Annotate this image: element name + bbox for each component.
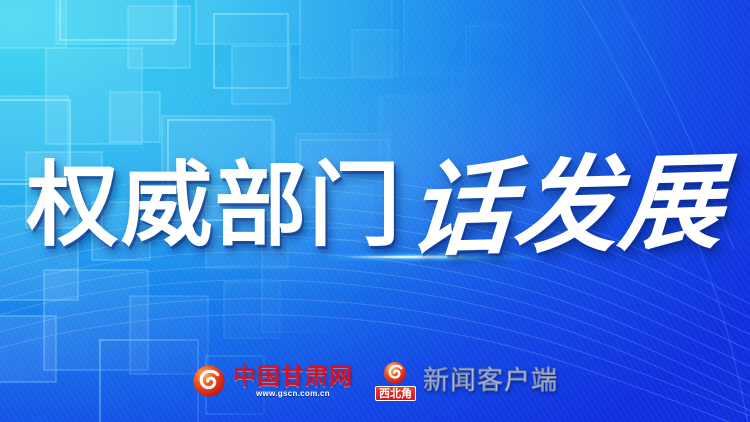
app-title: 新闻客户端 [423, 368, 558, 394]
headline-brush-text: 话发展 [405, 150, 727, 262]
gscn-swirl-mark [192, 364, 226, 398]
gscn-logo[interactable]: 中国甘肃网 www.gscn.com.cn [192, 364, 353, 398]
xibeijiao-badge: 西北角 [375, 386, 416, 402]
footer-logo-bar: 中国甘肃网 www.gscn.com.cn [0, 356, 750, 406]
xibeijiao-swirl-mark [382, 361, 408, 385]
page-title: 权威部门 话发展 [0, 148, 750, 264]
promo-banner: 权威部门 话发展 中国甘肃网 [0, 0, 750, 422]
xibeijiao-mark-stack: 西北角 [375, 361, 416, 402]
headline-block-text: 权威部门 [26, 160, 402, 252]
gscn-wordmark: 中国甘肃网 www.gscn.com.cn [233, 365, 353, 398]
xibeijiao-app-logo[interactable]: 西北角 新闻客户端 [375, 361, 558, 402]
gscn-url: www.gscn.com.cn [256, 390, 330, 398]
gscn-title: 中国甘肃网 [233, 365, 353, 388]
